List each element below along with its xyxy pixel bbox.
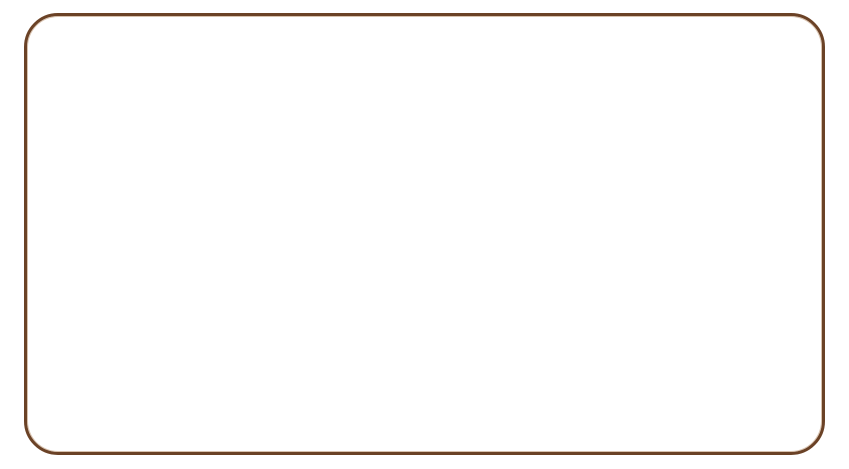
slide-border-frame [24,13,825,455]
bottom-mask [0,455,849,469]
